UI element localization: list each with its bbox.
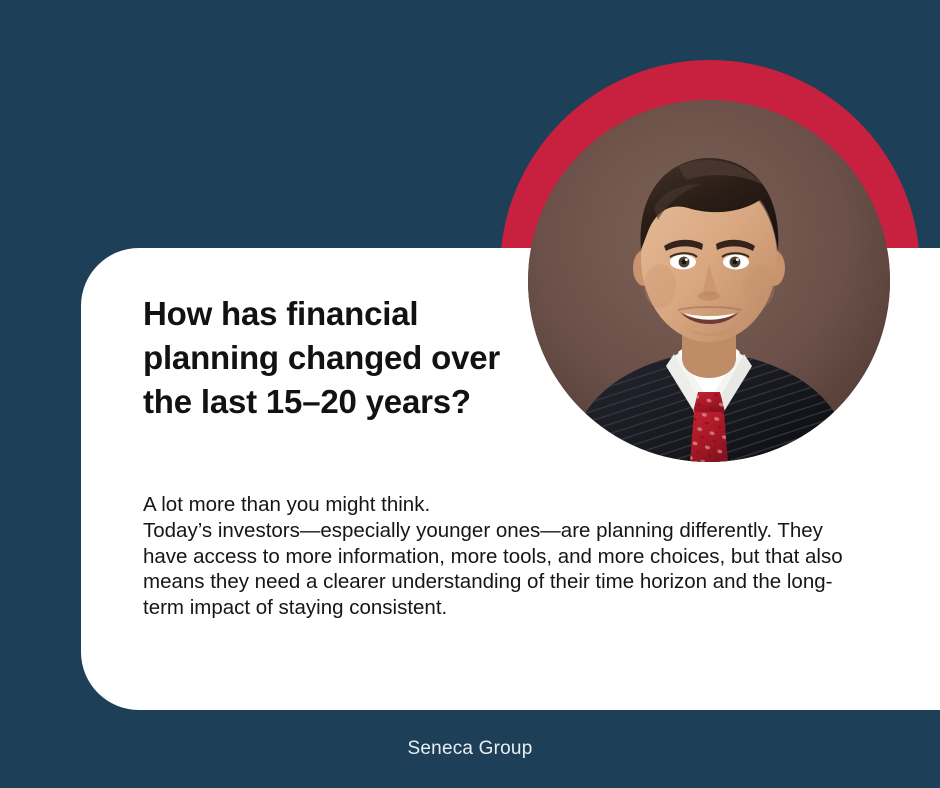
portrait-illustration — [528, 100, 890, 462]
footer-bar: Seneca Group — [0, 710, 940, 788]
slide-canvas: How has financial planning changed over … — [0, 0, 940, 788]
body-paragraph: A lot more than you might think. Today’s… — [143, 492, 873, 621]
brand-name: Seneca Group — [408, 738, 533, 760]
portrait-avatar — [528, 100, 890, 462]
page-title: How has financial planning changed over … — [143, 292, 543, 424]
